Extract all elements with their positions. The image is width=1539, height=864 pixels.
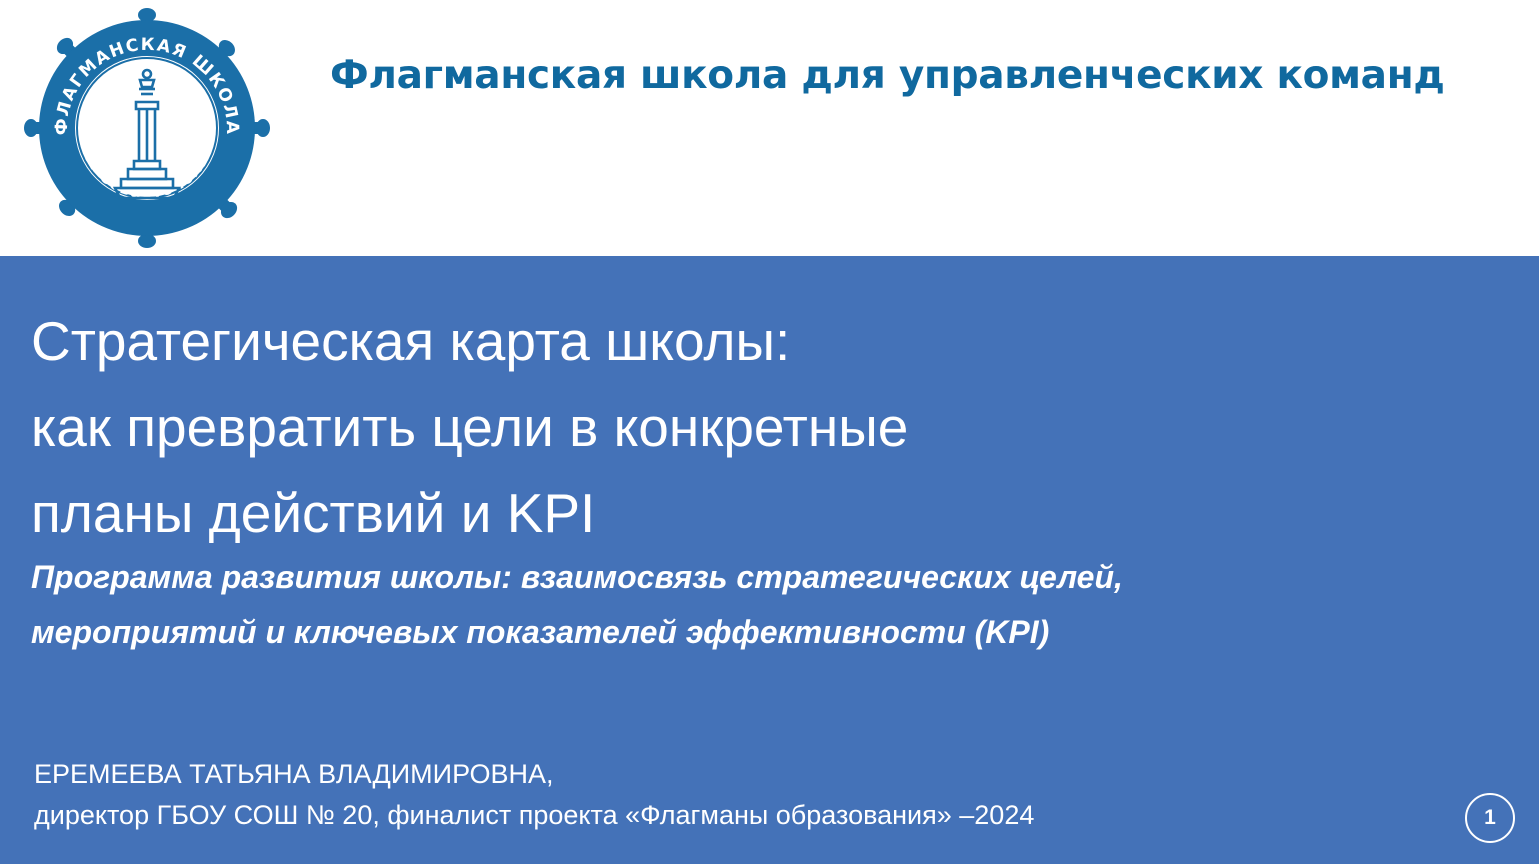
slide-subtitle: Программа развития школы: взаимосвязь ст…: [31, 550, 1431, 660]
main-title-line-2: как превратить цели в конкретные: [31, 384, 1231, 470]
main-title-line-3: планы действий и KPI: [31, 470, 1231, 556]
main-title-line-1: Стратегическая карта школы:: [31, 298, 1231, 384]
author-block: ЕРЕМЕЕВА ТАТЬЯНА ВЛАДИМИРОВНА, директор …: [34, 754, 1284, 836]
presentation-slide: ФЛАГМАНСКАЯ ШКОЛА г. Севастополь: [0, 0, 1539, 864]
page-title: Флагманская школа для управленческих ком…: [330, 52, 1450, 100]
slide-page-number: 1: [1465, 793, 1515, 843]
slide-body: Стратегическая карта школы: как преврати…: [0, 256, 1539, 864]
subtitle-line-2: мероприятий и ключевых показателей эффек…: [31, 605, 1431, 660]
author-name: ЕРЕМЕЕВА ТАТЬЯНА ВЛАДИМИРОВНА,: [34, 754, 1284, 795]
slide-header-band: ФЛАГМАНСКАЯ ШКОЛА г. Севастополь: [0, 0, 1539, 256]
flagship-school-wheel-logo: ФЛАГМАНСКАЯ ШКОЛА г. Севастополь: [22, 6, 272, 250]
slide-main-title: Стратегическая карта школы: как преврати…: [31, 298, 1231, 556]
subtitle-line-1: Программа развития школы: взаимосвязь ст…: [31, 550, 1431, 605]
author-position: директор ГБОУ СОШ № 20, финалист проекта…: [34, 795, 1284, 836]
